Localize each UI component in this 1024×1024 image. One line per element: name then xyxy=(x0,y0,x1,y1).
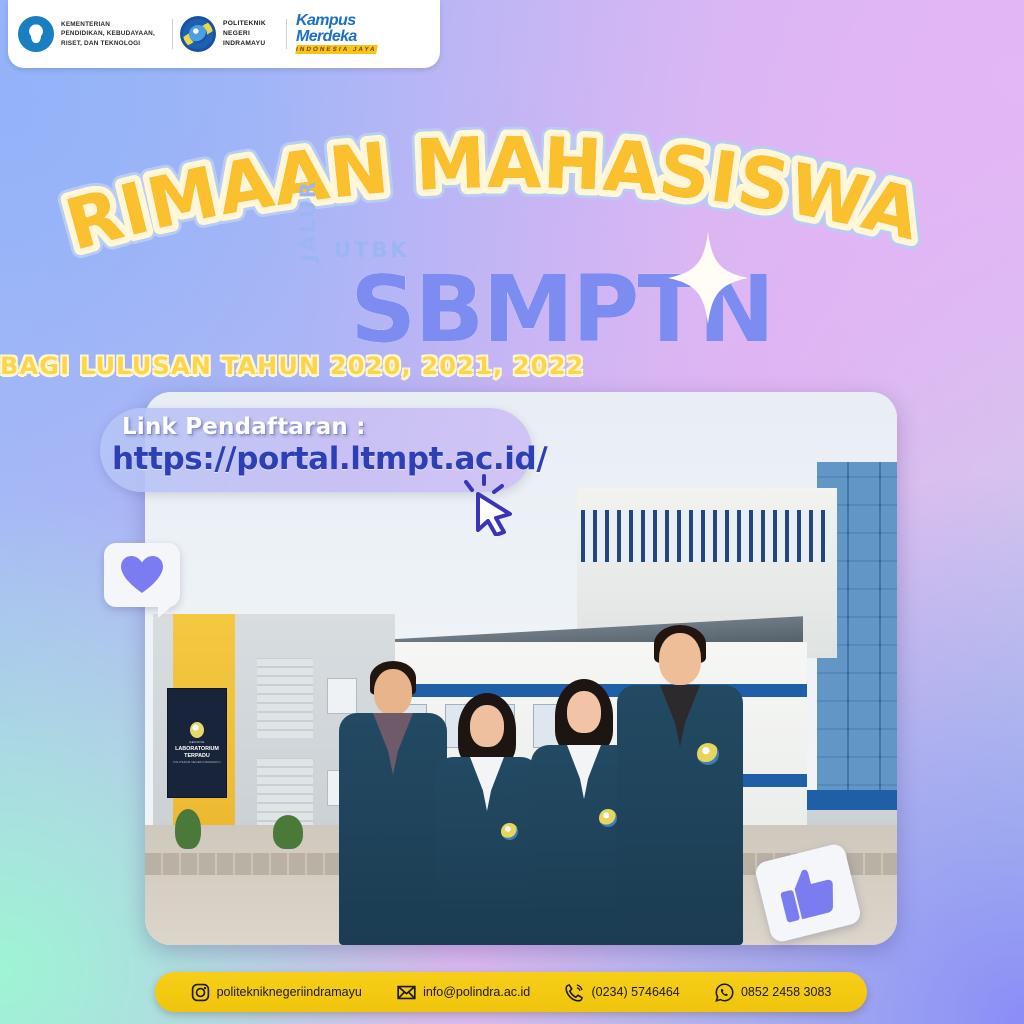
click-cursor-icon xyxy=(460,474,524,536)
registration-link-label: Link Pendaftaran : xyxy=(122,414,366,440)
instagram-icon xyxy=(191,983,210,1002)
student-figure xyxy=(613,625,747,945)
sign-emblem-icon xyxy=(190,722,204,738)
building-grille xyxy=(257,658,313,738)
whatsapp-number: 0852 2458 3083 xyxy=(741,985,831,999)
building-name-sign: GEDUNG LABORATORIUM TERPADU POLITEKNIK N… xyxy=(167,688,227,798)
email-address: info@polindra.ac.id xyxy=(423,985,530,999)
student-head xyxy=(470,705,504,747)
header-divider-1 xyxy=(172,19,173,49)
instagram-handle: politekniknegeriindramayu xyxy=(217,985,362,999)
kampus-merdeka-line1: Kampus xyxy=(296,14,377,29)
sign-line2: LABORATORIUM TERPADU xyxy=(168,746,226,760)
sign-line1: GEDUNG xyxy=(189,740,205,744)
phone-number: (0234) 5746464 xyxy=(591,985,679,999)
phone-icon xyxy=(565,983,584,1002)
heart-reaction-bubble xyxy=(104,543,180,607)
four-point-sparkle-icon xyxy=(668,232,748,324)
kampus-merdeka-logo: Kampus Merdeka INDONESIA JAYA xyxy=(294,14,377,54)
header-logo-bar: KEMENTERIAN PENDIDIKAN, KEBUDAYAAN, RISE… xyxy=(8,0,440,68)
contact-instagram[interactable]: politekniknegeriindramayu xyxy=(191,983,362,1002)
headline-arc: PENERIMAAN MAHASISWA BARU PENERIMAAN MAH… xyxy=(0,128,1024,258)
kemdikbud-garuda-logo xyxy=(18,16,54,52)
student-badge xyxy=(501,823,518,840)
label-jalur: JALUR xyxy=(296,180,320,262)
ministry-name: KEMENTERIAN PENDIDIKAN, KEBUDAYAAN, RISE… xyxy=(61,20,165,48)
envelope-icon xyxy=(397,983,416,1002)
shrub xyxy=(273,815,303,849)
sign-line3: POLITEKNIK NEGERI INDRAMAYU xyxy=(173,761,220,764)
kampus-merdeka-line2: Merdeka xyxy=(296,29,377,44)
headline-text: PENERIMAAN MAHASISWA BARU xyxy=(0,63,954,266)
contact-email[interactable]: info@polindra.ac.id xyxy=(397,983,530,1002)
contact-whatsapp[interactable]: 0852 2458 3083 xyxy=(715,983,831,1002)
kampus-merdeka-tagline: INDONESIA JAYA xyxy=(295,45,377,54)
student-head xyxy=(659,633,701,685)
svg-text:PENERIMAAN MAHASISWA BARU: PENERIMAAN MAHASISWA BARU xyxy=(0,63,954,266)
registration-url[interactable]: https://portal.ltmpt.ac.id/ xyxy=(112,441,547,477)
thumbs-up-icon xyxy=(774,860,841,926)
footer-contact-bar: politekniknegeriindramayu info@polindra.… xyxy=(155,972,867,1012)
student-head xyxy=(567,691,601,733)
shrub xyxy=(175,809,201,849)
polindra-gear-logo xyxy=(180,16,216,52)
header-divider-2 xyxy=(286,19,287,49)
student-head xyxy=(374,669,412,715)
heart-icon xyxy=(121,556,163,594)
whatsapp-icon xyxy=(715,983,734,1002)
upper-building-railing xyxy=(581,510,831,562)
institution-name: POLITEKNIK NEGERI INDRAMAYU xyxy=(223,19,279,49)
contact-phone[interactable]: (0234) 5746464 xyxy=(565,983,679,1002)
student-badge xyxy=(697,743,719,765)
